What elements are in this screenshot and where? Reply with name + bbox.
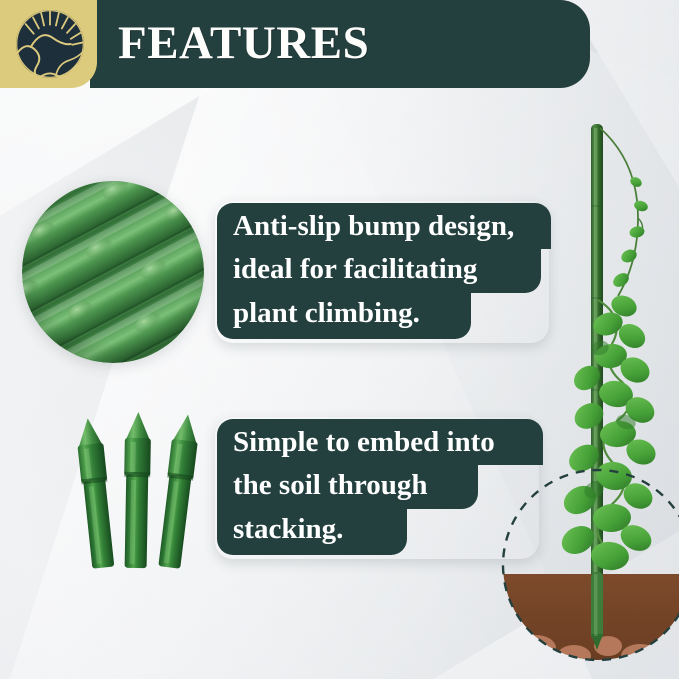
- sunrise-landscape-logo-icon: [13, 7, 87, 81]
- stackable-stakes-photo: [55, 398, 220, 573]
- climbing-plant-on-stake-photo: [488, 110, 679, 679]
- infographic-page: FEATURES: [0, 0, 679, 679]
- callout-line: Simple to embed into: [217, 419, 543, 465]
- header-banner: FEATURES: [0, 0, 590, 88]
- page-title: FEATURES: [118, 11, 369, 75]
- feature-callout-anti-slip: Anti-slip bump design, ideal for facilit…: [217, 203, 547, 339]
- logo-block: [0, 0, 97, 88]
- callout-line: Anti-slip bump design,: [217, 203, 551, 249]
- feature-callout-stacking: Simple to embed into the soil through st…: [217, 419, 537, 555]
- anti-slip-bump-closeup-photo: [22, 181, 204, 363]
